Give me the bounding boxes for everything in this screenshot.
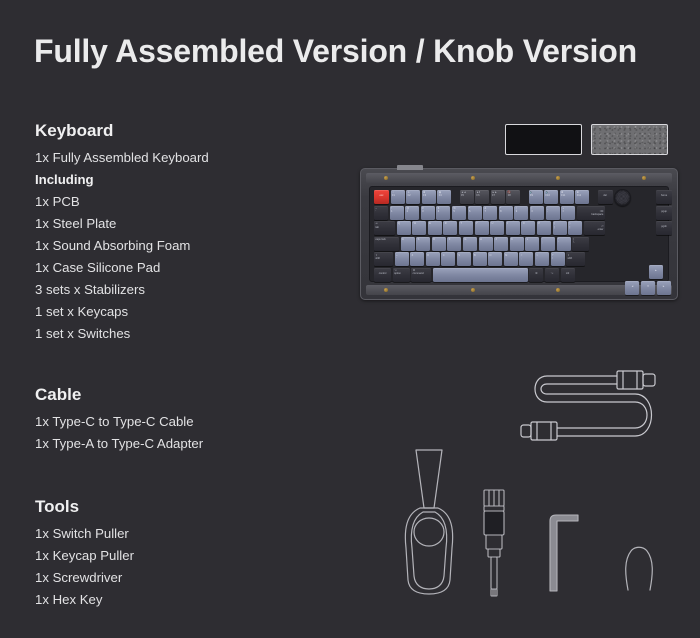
keycap-legend: T [459, 221, 473, 235]
keycap[interactable]: ☼ F1 [391, 190, 405, 204]
keycap-legend: & 7 [483, 206, 497, 220]
keyboard-row-number-row: ~ `! 1@ 2# 3$ 4% 5^ 6& 7* 8( 9) 0_ -+ =⌫… [374, 206, 664, 220]
keycap-legend: del [598, 190, 613, 204]
keycap-legend: > . [535, 252, 549, 266]
keycap-legend: W [412, 221, 426, 235]
contents-group-cable: Cable1x Type-C to Type-C Cable1x Type-A … [35, 386, 305, 455]
keycap[interactable]: > . [535, 252, 549, 266]
keyboard-row-shift-row: ⇧ shift~ `ZXCVBNM< ,> .? /⇧ shift [374, 252, 664, 266]
keycap[interactable]: O [521, 221, 535, 235]
contents-item: 1x Type-A to Type-C Adapter [35, 433, 305, 455]
keycap[interactable]: ! 1 [390, 206, 404, 220]
keycap-legend: F [447, 237, 461, 251]
case-screw [384, 288, 388, 292]
keycap[interactable]: C [441, 252, 455, 266]
keycap[interactable]: esc [374, 190, 389, 204]
keycap-legend: ◄◄ F5 [460, 190, 474, 204]
keycap[interactable]: F [447, 237, 461, 251]
keycap[interactable]: M [504, 252, 518, 266]
keycap-legend: ⇥ tab [374, 221, 395, 235]
contents-item: 1x Screwdriver [35, 567, 305, 589]
keycap[interactable]: control [374, 268, 391, 282]
keyboard-row-qwerty-row: ⇥ tabQWERTYUIOP{ [} ]⏎ enter [374, 221, 664, 235]
keycap-legend: } ] [568, 221, 582, 235]
switch-puller-illustration [622, 540, 656, 592]
arrow-row-upper: ▲ [625, 265, 671, 279]
keycap-legend: K [510, 237, 524, 251]
keycap-legend: 🔇 F8 [506, 190, 520, 204]
keycap-legend: ▼ [641, 281, 655, 295]
keycap[interactable]: * 8 [499, 206, 513, 220]
keycap-legend: " ' [557, 237, 571, 251]
keycap[interactable]: I [506, 221, 520, 235]
keyboard-product-image: esc☼ F1☀ F2⊞ F3▦ F4◄◄ F5►‖ F6►► F7🔇 F8🔉 … [360, 168, 678, 300]
keycap-legend: ►‖ F6 [475, 190, 489, 204]
keycap-legend: B [473, 252, 487, 266]
arrow-row-lower: ◄▼► [625, 281, 671, 295]
keycap[interactable]: 🔇 F8 [506, 190, 520, 204]
keycap-legend: A [401, 237, 415, 251]
contents-item: 1x Keycap Puller [35, 545, 305, 567]
key-gap [591, 190, 596, 204]
navigation-key-column: homepguppgdn [656, 190, 672, 235]
keycap-legend: E [428, 221, 442, 235]
keycap-legend: ctrl [561, 268, 575, 282]
keycap-legend: ! 1 [390, 206, 404, 220]
keycap[interactable]: R [443, 221, 457, 235]
keycap[interactable]: ( 9 [514, 206, 528, 220]
keycap-arrow-up[interactable]: ▲ [649, 265, 663, 279]
keycap-legend: % 5 [452, 206, 466, 220]
keycap-legend: ( 9 [514, 206, 528, 220]
page-title: Fully Assembled Version / Knob Version [34, 33, 637, 70]
keycap-pgup[interactable]: pgup [656, 206, 672, 220]
keycap[interactable]: ☀ F2 [406, 190, 420, 204]
keyboard-row-function-row: esc☼ F1☀ F2⊞ F3▦ F4◄◄ F5►‖ F6►► F7🔇 F8🔉 … [374, 190, 664, 204]
product-contents-page: Fully Assembled Version / Knob Version K… [0, 0, 700, 638]
keycap[interactable]: ⌘ [529, 268, 543, 282]
keycap-legend: ⊞ F3 [422, 190, 436, 204]
keycap-legend: $ 4 [436, 206, 450, 220]
keycap-legend: ^ 6 [468, 206, 482, 220]
hex-key-illustration [548, 513, 584, 593]
keycap[interactable]: { [ [553, 221, 567, 235]
keycap-legend: pgup [656, 206, 672, 220]
keycap-legend: Z [410, 252, 424, 266]
group-heading: Cable [35, 386, 305, 404]
keycap-legend: caps lock [374, 237, 399, 251]
keycap[interactable]: ctrl [561, 268, 575, 282]
keycap[interactable]: 🔊 F10 [544, 190, 558, 204]
keycap[interactable]: ⇧ shift [374, 252, 393, 266]
keyboard-row-home-row: caps lockASDFGHJKL: ;" '| \ [374, 237, 664, 251]
keycap[interactable]: ⏎ enter [584, 221, 605, 235]
keycap[interactable]: ) 0 [530, 206, 544, 220]
key-gap [522, 190, 527, 204]
keycap-legend: ⇧ shift [374, 252, 393, 266]
keycap[interactable]: T [459, 221, 473, 235]
keycap[interactable]: del [598, 190, 613, 204]
keycap-arrow-down[interactable]: ▼ [641, 281, 655, 295]
keycap-legend: O [521, 221, 535, 235]
keycap-legend: # 3 [421, 206, 435, 220]
keycap-legend: V [457, 252, 471, 266]
contents-item: 1x Type-C to Type-C Cable [35, 411, 305, 433]
keycap[interactable]: & 7 [483, 206, 497, 220]
contents-item: Including [35, 169, 305, 191]
keycap-legend: 🔊 F10 [544, 190, 558, 204]
keycap[interactable]: | \ [572, 237, 589, 251]
keycap-arrow-left[interactable]: ◄ [625, 281, 639, 295]
keycap-legend: S [416, 237, 430, 251]
keycap-legend: @ 2 [405, 206, 419, 220]
keycap[interactable]: < , [519, 252, 533, 266]
keycap-legend: ▲ [649, 265, 663, 279]
case-screw [556, 176, 560, 180]
contents-item: 1x Steel Plate [35, 213, 305, 235]
keycap[interactable]: 🔉 F9 [529, 190, 543, 204]
sound-absorbing-foam-swatch [591, 124, 668, 155]
keycap-home[interactable]: home [656, 190, 672, 204]
group-heading: Keyboard [35, 122, 305, 140]
keycap[interactable]: ⌥ [545, 268, 559, 282]
keycap-legend: _ - [546, 206, 560, 220]
keycap-legend: : ; [541, 237, 555, 251]
screwdriver-illustration [476, 488, 512, 598]
contents-item: 1 set x Switches [35, 323, 305, 345]
keyboard-case: esc☼ F1☀ F2⊞ F3▦ F4◄◄ F5►‖ F6►► F7🔇 F8🔉 … [360, 168, 678, 300]
keycap[interactable]: X [426, 252, 440, 266]
contents-item: 1x Fully Assembled Keyboard [35, 147, 305, 169]
case-screw [471, 288, 475, 292]
keycap-legend: ~ ` [395, 252, 409, 266]
keycap[interactable]: ~ ` [374, 206, 388, 220]
keycap[interactable]: ⇧ shift [566, 252, 585, 266]
keycap[interactable]: caps lock [374, 237, 399, 251]
keycap-legend: N [488, 252, 502, 266]
keycap-legend: < , [519, 252, 533, 266]
keycap[interactable]: @ 2 [405, 206, 419, 220]
keycap-legend: ✺ F11 [560, 190, 574, 204]
keycap[interactable]: ◄◄ F5 [460, 190, 474, 204]
keycap[interactable]: ⌘ command [411, 268, 431, 282]
keycap-legend: H [479, 237, 493, 251]
keycap-legend: ~ ` [374, 206, 388, 220]
keycap-pgdn[interactable]: pgdn [656, 221, 672, 235]
keycap[interactable]: ▦ F4 [437, 190, 451, 204]
keycap[interactable]: G [463, 237, 477, 251]
key-gap [453, 190, 458, 204]
keycap-legend: ⌥ [545, 268, 559, 282]
keycap[interactable]: J [494, 237, 508, 251]
cable-illustration [505, 362, 675, 452]
keycap[interactable]: _ - [546, 206, 560, 220]
arrow-key-cluster: ▲◄▼► [625, 265, 671, 295]
keycap[interactable]: ⌫ backspace [577, 206, 605, 220]
keycap-puller-illustration [398, 448, 460, 596]
keycap[interactable]: # 3 [421, 206, 435, 220]
contents-group-keyboard: Keyboard1x Fully Assembled KeyboardInclu… [35, 122, 305, 345]
keycap[interactable]: W [412, 221, 426, 235]
keycap[interactable]: ~ ` [395, 252, 409, 266]
keycap[interactable]: D [432, 237, 446, 251]
keycap[interactable]: ⇥ tab [374, 221, 395, 235]
group-heading: Tools [35, 498, 305, 516]
keycap[interactable]: + = [561, 206, 575, 220]
keycap[interactable]: Y [475, 221, 489, 235]
keycap[interactable]: U [490, 221, 504, 235]
contents-item: 1x PCB [35, 191, 305, 213]
case-screw [642, 176, 646, 180]
keycap-legend: R [443, 221, 457, 235]
keycap-legend: L [525, 237, 539, 251]
keycap-legend [433, 268, 528, 282]
keycap-legend: esc [374, 190, 389, 204]
keycap[interactable]: : ; [541, 237, 555, 251]
keycap-legend: I [506, 221, 520, 235]
keycap-legend: ► [657, 281, 671, 295]
keycap-legend: control [374, 268, 391, 282]
keycap-legend: ⌘ command [411, 268, 431, 282]
keycap[interactable]: P [537, 221, 551, 235]
keycap[interactable]: ✹ F12 [575, 190, 589, 204]
keycap-legend: G [463, 237, 477, 251]
keycap-legend: C [441, 252, 455, 266]
keycap[interactable]: ? / [551, 252, 565, 266]
keycap[interactable]: $ 4 [436, 206, 450, 220]
material-swatches [505, 124, 668, 155]
keycap-legend: ☀ F2 [406, 190, 420, 204]
keycap-legend: ⌫ backspace [577, 206, 605, 220]
keycap[interactable]: K [510, 237, 524, 251]
keycap[interactable]: ^ 6 [468, 206, 482, 220]
keyboard-keyplate: esc☼ F1☀ F2⊞ F3▦ F4◄◄ F5►‖ F6►► F7🔇 F8🔉 … [369, 186, 669, 282]
keycap-legend: ✹ F12 [575, 190, 589, 204]
contents-item: 1x Hex Key [35, 589, 305, 611]
keycap-legend: ? / [551, 252, 565, 266]
contents-list: Keyboard1x Fully Assembled KeyboardInclu… [35, 122, 305, 611]
keyboard-row-bottom-row: control⌥ option⌘ command⌘⌥ctrl [374, 268, 664, 282]
keycap[interactable] [433, 268, 528, 282]
keycap[interactable]: A [401, 237, 415, 251]
keycap-legend: * 8 [499, 206, 513, 220]
keycap[interactable]: V [457, 252, 471, 266]
keycap[interactable]: ►‖ F6 [475, 190, 489, 204]
contents-group-tools: Tools1x Switch Puller1x Keycap Puller1x … [35, 498, 305, 611]
rotary-knob[interactable] [614, 189, 631, 206]
keycap-legend: ◄ [625, 281, 639, 295]
keycap-legend: ⏎ enter [584, 221, 605, 235]
keycap[interactable]: } ] [568, 221, 582, 235]
keycap-legend: ) 0 [530, 206, 544, 220]
contents-item: 1x Switch Puller [35, 523, 305, 545]
case-screw [556, 288, 560, 292]
keycap-legend: U [490, 221, 504, 235]
keycap[interactable]: ⌥ option [393, 268, 410, 282]
keycap[interactable]: Z [410, 252, 424, 266]
keycap-legend: P [537, 221, 551, 235]
keycap[interactable]: H [479, 237, 493, 251]
contents-item: 1x Sound Absorbing Foam [35, 235, 305, 257]
keycap-legend: ⌘ [529, 268, 543, 282]
keycap-legend: ►► F7 [491, 190, 505, 204]
contents-item: 1x Case Silicone Pad [35, 257, 305, 279]
keycap-legend: { [ [553, 221, 567, 235]
keycap-legend: ▦ F4 [437, 190, 451, 204]
keycap[interactable]: " ' [557, 237, 571, 251]
keycap-legend: | \ [572, 237, 589, 251]
keycap-arrow-right[interactable]: ► [657, 281, 671, 295]
keycap[interactable]: B [473, 252, 487, 266]
keycap-legend: ⌥ option [393, 268, 410, 282]
keycap[interactable]: Q [397, 221, 411, 235]
contents-item: 1 set x Keycaps [35, 301, 305, 323]
steel-plate-swatch [505, 124, 582, 155]
keycap[interactable]: N [488, 252, 502, 266]
keycap-legend: D [432, 237, 446, 251]
keycap-legend: + = [561, 206, 575, 220]
keycap-legend: X [426, 252, 440, 266]
contents-item: 3 sets x Stabilizers [35, 279, 305, 301]
keycap-legend: 🔉 F9 [529, 190, 543, 204]
keycap[interactable]: S [416, 237, 430, 251]
keycap-legend: Y [475, 221, 489, 235]
keycap-legend: Q [397, 221, 411, 235]
keycap[interactable]: ⊞ F3 [422, 190, 436, 204]
keycap[interactable]: ►► F7 [491, 190, 505, 204]
keycap-legend: M [504, 252, 518, 266]
keycap[interactable]: ✺ F11 [560, 190, 574, 204]
case-screw [471, 176, 475, 180]
case-top-rail [366, 173, 672, 183]
keycap-legend: ⇧ shift [566, 252, 585, 266]
case-screw [384, 176, 388, 180]
keycap-legend: J [494, 237, 508, 251]
keycap-legend: home [656, 190, 672, 204]
keycap[interactable]: % 5 [452, 206, 466, 220]
keycap[interactable]: E [428, 221, 442, 235]
keycap-legend: pgdn [656, 221, 672, 235]
keycap[interactable]: L [525, 237, 539, 251]
usb-port-icon [397, 165, 423, 170]
keycap-legend: ☼ F1 [391, 190, 405, 204]
